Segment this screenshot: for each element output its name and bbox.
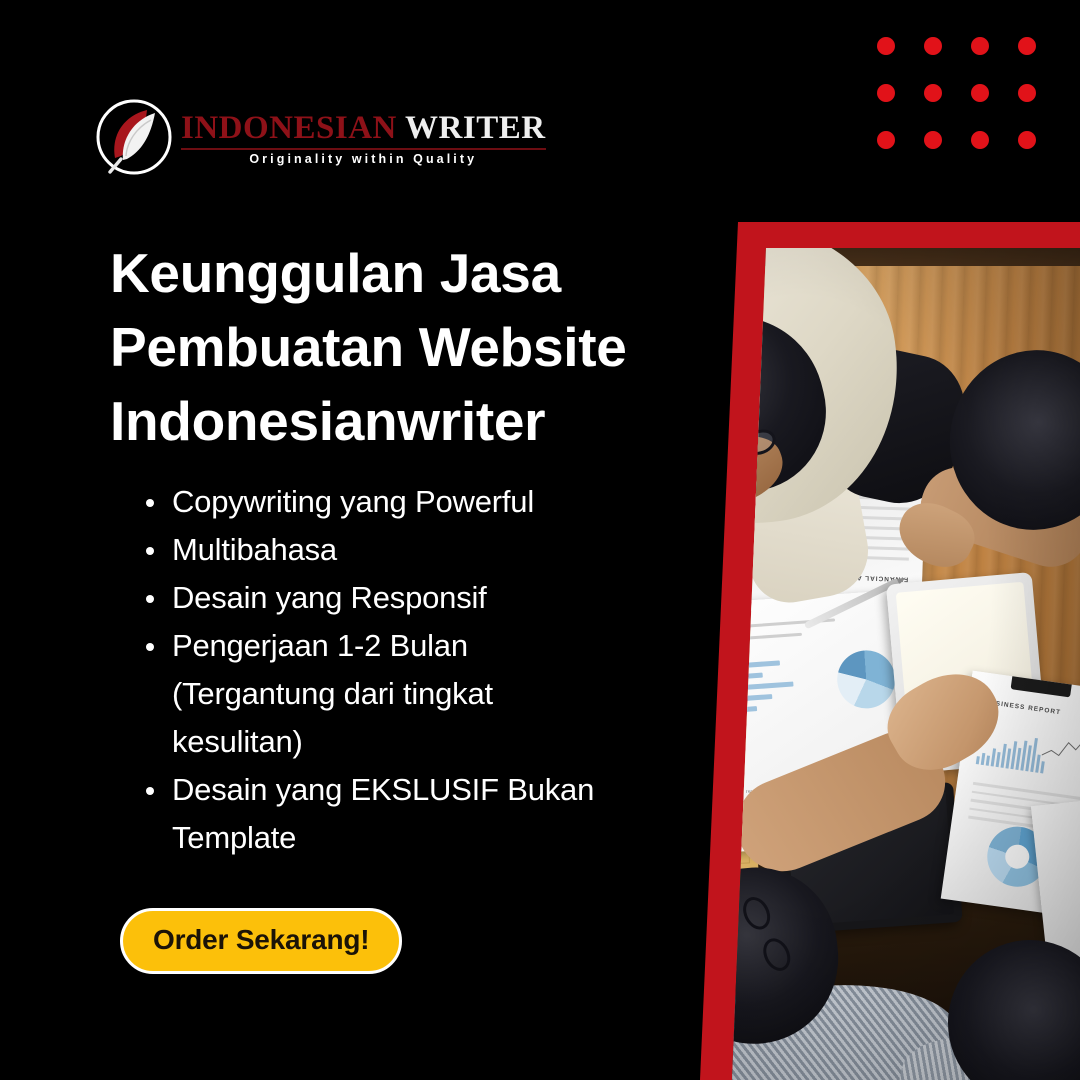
- wordmark-indonesian: INDONESIAN: [181, 110, 397, 146]
- dot-icon: [877, 84, 895, 102]
- brand-wordmark: INDONESIAN WRITER Originality within Qua…: [181, 108, 546, 166]
- list-item: Copywriting yang Powerful: [146, 478, 616, 526]
- list-item: Multibahasa: [146, 526, 616, 574]
- promo-poster: INDONESIAN WRITER Originality within Qua…: [0, 0, 1080, 1080]
- feather-quill-circle-icon: [93, 96, 175, 178]
- dot-icon: [924, 131, 942, 149]
- order-now-button[interactable]: Order Sekarang!: [120, 908, 402, 974]
- dot-icon: [1018, 131, 1036, 149]
- brand-logo[interactable]: INDONESIAN WRITER Originality within Qua…: [93, 96, 546, 178]
- list-item: Desain yang Responsif: [146, 574, 616, 622]
- dot-icon: [877, 37, 895, 55]
- dot-icon: [1018, 84, 1036, 102]
- dot-icon: [924, 84, 942, 102]
- benefits-list: Copywriting yang Powerful Multibahasa De…: [146, 478, 616, 862]
- dot-icon: [877, 131, 895, 149]
- dot-icon: [1018, 37, 1036, 55]
- list-item: Desain yang EKSLUSIF Bukan Template: [146, 766, 616, 862]
- dot-grid-pattern: [862, 22, 1050, 163]
- dot-icon: [971, 84, 989, 102]
- wordmark-divider: [181, 148, 546, 150]
- dot-icon: [924, 37, 942, 55]
- brand-tagline: Originality within Quality: [181, 152, 546, 166]
- dot-icon: [971, 131, 989, 149]
- list-item: Pengerjaan 1-2 Bulan (Tergantung dari ti…: [146, 622, 616, 766]
- dot-icon: [971, 37, 989, 55]
- page-title: Keunggulan Jasa Pembuatan Website Indone…: [110, 236, 670, 458]
- wordmark-writer: WRITER: [405, 110, 546, 146]
